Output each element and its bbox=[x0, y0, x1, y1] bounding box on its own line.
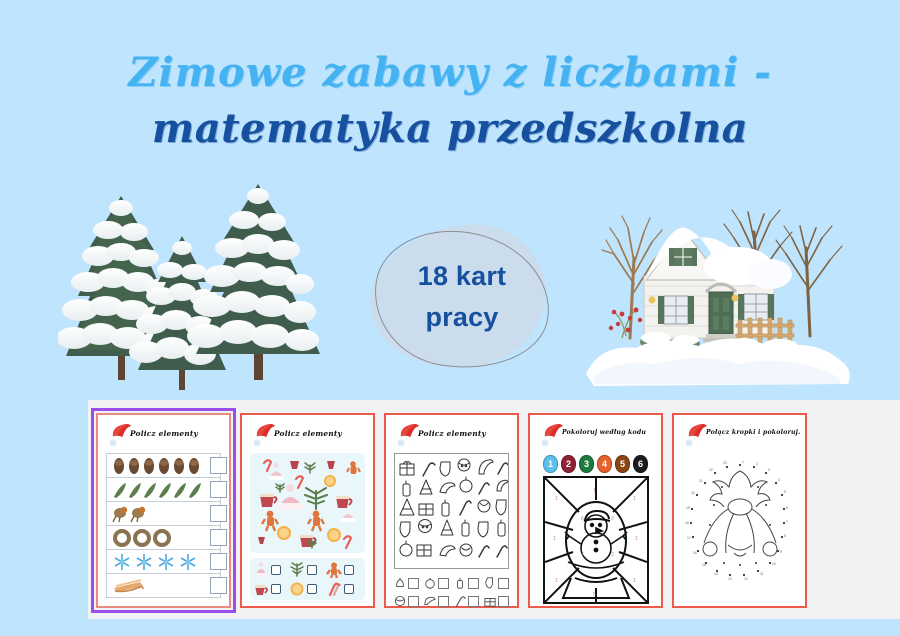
card-header: Połącz kropki i pokoloruj. bbox=[680, 421, 799, 451]
svg-text:1: 1 bbox=[742, 460, 744, 464]
row-items-wreath bbox=[110, 528, 210, 548]
answer-box[interactable] bbox=[210, 457, 227, 474]
legend-item-bauble bbox=[422, 574, 452, 592]
answer-box[interactable] bbox=[408, 578, 419, 589]
answer-box[interactable] bbox=[271, 584, 281, 594]
svg-text:16: 16 bbox=[693, 551, 697, 555]
doodle-grid bbox=[394, 453, 509, 569]
svg-text:1: 1 bbox=[633, 578, 636, 584]
svg-text:18: 18 bbox=[685, 521, 689, 525]
legend-item-santa-face bbox=[392, 592, 422, 610]
card-title: Policz elementy bbox=[130, 429, 221, 438]
legend-item-stocking bbox=[481, 574, 511, 592]
card-header: Policz elementy bbox=[392, 421, 511, 451]
card-title: Pokoloruj według kodu bbox=[562, 429, 653, 436]
answer-box[interactable] bbox=[271, 565, 281, 575]
svg-text:3: 3 bbox=[768, 468, 770, 472]
answer-box[interactable] bbox=[210, 529, 227, 546]
color-code-2[interactable]: 2 bbox=[561, 455, 576, 473]
page-title: Zimowe zabawy z liczbami - matematyka pr… bbox=[0, 52, 900, 150]
answer-box[interactable] bbox=[408, 596, 419, 607]
card-title: Policz elementy bbox=[418, 429, 509, 438]
answer-box[interactable] bbox=[210, 553, 227, 570]
answer-box[interactable] bbox=[210, 481, 227, 498]
legend-item-santa-hat bbox=[422, 592, 452, 610]
svg-text:3: 3 bbox=[611, 552, 614, 558]
legend-item-pink-winter-hat bbox=[253, 560, 289, 579]
worksheet-card-policz-elementy-scatter[interactable]: Policz elementy bbox=[240, 413, 375, 608]
svg-text:19: 19 bbox=[686, 506, 690, 510]
legend-item-candy-cane bbox=[326, 579, 362, 598]
color-code-5[interactable]: 5 bbox=[615, 455, 630, 473]
svg-text:4: 4 bbox=[581, 552, 584, 558]
color-code-6[interactable]: 6 bbox=[633, 455, 648, 473]
table-row[interactable] bbox=[107, 454, 220, 478]
row-items-sled bbox=[110, 576, 210, 596]
answer-box[interactable] bbox=[438, 578, 449, 589]
answer-box[interactable] bbox=[344, 584, 354, 594]
svg-text:7: 7 bbox=[786, 520, 788, 524]
svg-text:6: 6 bbox=[581, 516, 584, 522]
table-row[interactable] bbox=[107, 502, 220, 526]
row-items-pinecone bbox=[110, 456, 210, 476]
card-title: Policz elementy bbox=[274, 429, 365, 438]
connect-the-dots-picture: 123 456 789 101112 131415 161718 192021 … bbox=[684, 459, 796, 599]
svg-text:4: 4 bbox=[778, 478, 780, 482]
svg-text:12: 12 bbox=[744, 577, 748, 581]
row-items-snowflake bbox=[110, 552, 210, 572]
color-code-4[interactable]: 4 bbox=[597, 455, 612, 473]
counting-table bbox=[106, 453, 221, 598]
legend-item-candy-cane bbox=[452, 592, 482, 610]
answer-box[interactable] bbox=[468, 578, 479, 589]
answer-box[interactable] bbox=[307, 584, 317, 594]
svg-text:23: 23 bbox=[723, 461, 727, 465]
legend-item-pine-sprig bbox=[289, 560, 325, 579]
row-items-pine-leaf bbox=[110, 480, 210, 500]
svg-text:5: 5 bbox=[784, 490, 786, 494]
badge-text: 18 kart pracy bbox=[362, 256, 562, 337]
svg-text:2: 2 bbox=[756, 462, 758, 466]
answer-box[interactable] bbox=[307, 565, 317, 575]
color-code-legend: 1 2 3 4 5 6 bbox=[530, 455, 661, 473]
answer-box[interactable] bbox=[468, 596, 479, 607]
scatter-items-panel bbox=[250, 453, 365, 553]
table-row[interactable] bbox=[107, 526, 220, 550]
answer-box[interactable] bbox=[498, 578, 509, 589]
legend-item-gift-box bbox=[481, 592, 511, 610]
answer-box[interactable] bbox=[210, 505, 227, 522]
svg-text:15: 15 bbox=[702, 563, 706, 567]
svg-text:1: 1 bbox=[633, 496, 636, 502]
badge-line-1: 18 kart bbox=[362, 256, 562, 297]
card-header: Policz elementy bbox=[248, 421, 367, 451]
card-title: Połącz kropki i pokoloruj. bbox=[706, 429, 797, 436]
table-row[interactable] bbox=[107, 574, 220, 598]
color-code-1[interactable]: 1 bbox=[543, 455, 558, 473]
answer-box[interactable] bbox=[344, 565, 354, 575]
svg-text:6: 6 bbox=[786, 506, 788, 510]
svg-text:11: 11 bbox=[760, 572, 764, 576]
legend-item-gingerbread-man bbox=[326, 560, 362, 579]
worksheet-card-policz-elementy-kolor[interactable]: Policz elementy bbox=[96, 413, 231, 608]
svg-text:5: 5 bbox=[593, 592, 596, 598]
svg-text:20: 20 bbox=[691, 491, 695, 495]
legend-item-bell bbox=[392, 574, 422, 592]
legend-item-cocoa-mug bbox=[253, 579, 289, 598]
answer-box[interactable] bbox=[210, 577, 227, 594]
snow-covered-pine-trees-illustration bbox=[58, 178, 348, 398]
badge-line-2: pracy bbox=[362, 297, 562, 338]
snow-globe-coloring-picture: 11 11 15 11 62 43 bbox=[543, 476, 649, 604]
svg-text:8: 8 bbox=[784, 534, 786, 538]
svg-text:9: 9 bbox=[780, 550, 782, 554]
table-row[interactable] bbox=[107, 478, 220, 502]
svg-text:21: 21 bbox=[699, 479, 703, 483]
worksheet-card-strip: Policz elementy bbox=[88, 400, 900, 619]
svg-text:1: 1 bbox=[593, 488, 596, 494]
kart-pracy-badge: 18 kart pracy bbox=[362, 222, 562, 377]
worksheet-card-pokoloruj-wedlug-kodu[interactable]: Pokoloruj według kodu 1 2 3 4 5 6 bbox=[528, 413, 663, 608]
svg-text:14: 14 bbox=[714, 572, 718, 576]
worksheet-card-polacz-kropki[interactable]: Połącz kropki i pokoloruj. bbox=[672, 413, 807, 608]
svg-text:1: 1 bbox=[635, 536, 638, 542]
color-code-3[interactable]: 3 bbox=[579, 455, 594, 473]
page-title-line-1: Zimowe zabawy z liczbami - bbox=[0, 52, 900, 94]
svg-text:2: 2 bbox=[611, 516, 614, 522]
card-header: Policz elementy bbox=[104, 421, 223, 451]
answer-box[interactable] bbox=[498, 596, 509, 607]
worksheet-card-policz-elementy-bw[interactable]: Policz elementy bbox=[384, 413, 519, 608]
svg-text:13: 13 bbox=[728, 577, 732, 581]
legend-panel bbox=[392, 573, 511, 611]
legend-item-orange-slice bbox=[289, 579, 325, 598]
svg-text:10: 10 bbox=[772, 562, 776, 566]
card-header: Pokoloruj według kodu bbox=[536, 421, 655, 451]
svg-text:1: 1 bbox=[555, 578, 558, 584]
row-items-robin-bird bbox=[110, 504, 210, 524]
page-title-line-2: matematyka przedszkolna bbox=[0, 108, 900, 150]
legend-item-candle bbox=[452, 574, 482, 592]
answer-box[interactable] bbox=[438, 596, 449, 607]
table-row[interactable] bbox=[107, 550, 220, 574]
winter-cottage-illustration bbox=[578, 188, 868, 393]
svg-text:1: 1 bbox=[553, 536, 556, 542]
svg-text:22: 22 bbox=[709, 468, 713, 472]
svg-text:1: 1 bbox=[555, 496, 558, 502]
svg-text:17: 17 bbox=[687, 536, 691, 540]
legend-panel bbox=[250, 558, 365, 600]
